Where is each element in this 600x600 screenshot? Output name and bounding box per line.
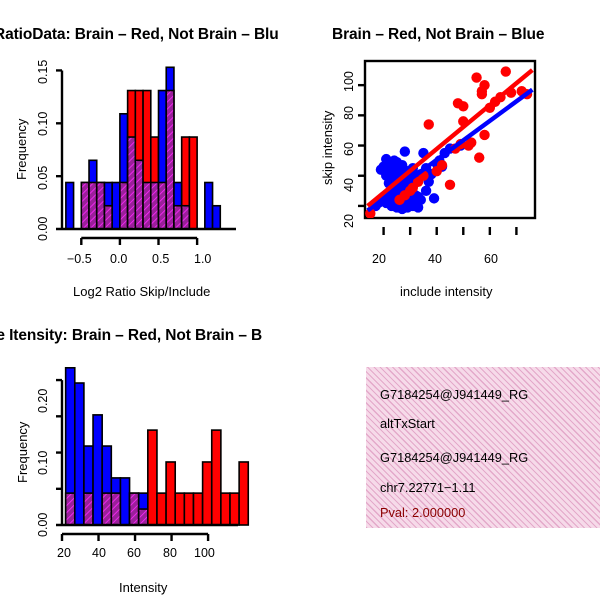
scatter-point: [458, 101, 468, 111]
histogram-bar-overlap: [81, 182, 89, 229]
histogram-bar: [213, 206, 221, 229]
scatter-point: [429, 193, 439, 203]
scatter-plot: [300, 0, 600, 310]
info-line-pvalue: Pval: 2.000000: [380, 505, 465, 520]
histogram-bar: [205, 182, 213, 229]
histogram-bar: [221, 493, 230, 525]
histogram-bar-overlap: [104, 206, 112, 229]
histogram-bar: [212, 430, 221, 525]
histogram-bar: [230, 493, 239, 525]
histogram-bar-overlap: [89, 182, 97, 229]
histogram-bar-overlap: [120, 182, 128, 229]
histogram-bar: [193, 493, 202, 525]
histogram-bar-overlap: [139, 509, 148, 525]
histogram-bar-overlap: [159, 182, 167, 229]
trend-line: [368, 90, 533, 211]
histogram-bar: [120, 478, 129, 525]
scatter-point: [437, 160, 447, 170]
histogram-bar: [66, 182, 74, 229]
scatter-point: [479, 130, 489, 140]
scatter-point: [471, 72, 481, 82]
histogram-bar: [157, 493, 166, 525]
intensity-histogram-plot: [0, 310, 300, 600]
histogram-bar: [112, 182, 120, 229]
scatter-point: [400, 146, 410, 156]
info-line-event-id: G7184254@J941449_RG: [380, 387, 528, 402]
scatter-point: [479, 80, 489, 90]
histogram-bar-overlap: [97, 182, 105, 229]
ratio-histogram-plot: [0, 0, 300, 310]
histogram-bar: [203, 462, 212, 525]
histogram-bar: [75, 383, 84, 525]
histogram-bar-overlap: [84, 493, 93, 525]
histogram-bar-overlap: [128, 137, 136, 229]
annotation-info-box: G7184254@J941449_RG altTxStart G7184254@…: [366, 367, 600, 528]
histogram-bar-overlap: [102, 493, 111, 525]
histogram-bar-overlap: [111, 493, 120, 525]
histogram-bar: [93, 415, 102, 525]
figure-canvas: RatioData: Brain – Red, Not Brain – Blu …: [0, 0, 600, 600]
scatter-point: [477, 89, 487, 99]
panel-intensity-scatter: Brain – Red, Not Brain – Blue skip inten…: [300, 0, 600, 310]
histogram-bar: [239, 462, 248, 525]
histogram-bar-overlap: [143, 182, 151, 229]
panel-ratio-histogram: RatioData: Brain – Red, Not Brain – Blu …: [0, 0, 300, 310]
histogram-bar-overlap: [130, 493, 139, 525]
scatter-point: [416, 195, 426, 205]
histogram-bar-overlap: [182, 206, 190, 229]
histogram-bar-overlap: [166, 91, 174, 229]
scatter-point: [424, 119, 434, 129]
info-line-probe-id: G7184254@J941449_RG: [380, 450, 528, 465]
histogram-bar: [189, 137, 197, 229]
histogram-bar: [175, 493, 184, 525]
scatter-point: [501, 66, 511, 76]
histogram-bar-overlap: [66, 493, 75, 525]
histogram-bar: [184, 493, 193, 525]
panel-intensity-histogram: ne Itensity: Brain – Red, Not Brain – B …: [0, 310, 300, 600]
info-line-coordinates: chr7.22771−1.11: [380, 480, 475, 495]
scatter-point: [445, 180, 455, 190]
histogram-bar: [166, 462, 175, 525]
histogram-bar: [148, 430, 157, 525]
histogram-bar-overlap: [151, 182, 159, 229]
histogram-bar-overlap: [174, 206, 182, 229]
histogram-bar-overlap: [135, 160, 143, 229]
scatter-point: [421, 186, 431, 196]
scatter-point: [474, 152, 484, 162]
info-line-event-type: altTxStart: [380, 416, 435, 431]
